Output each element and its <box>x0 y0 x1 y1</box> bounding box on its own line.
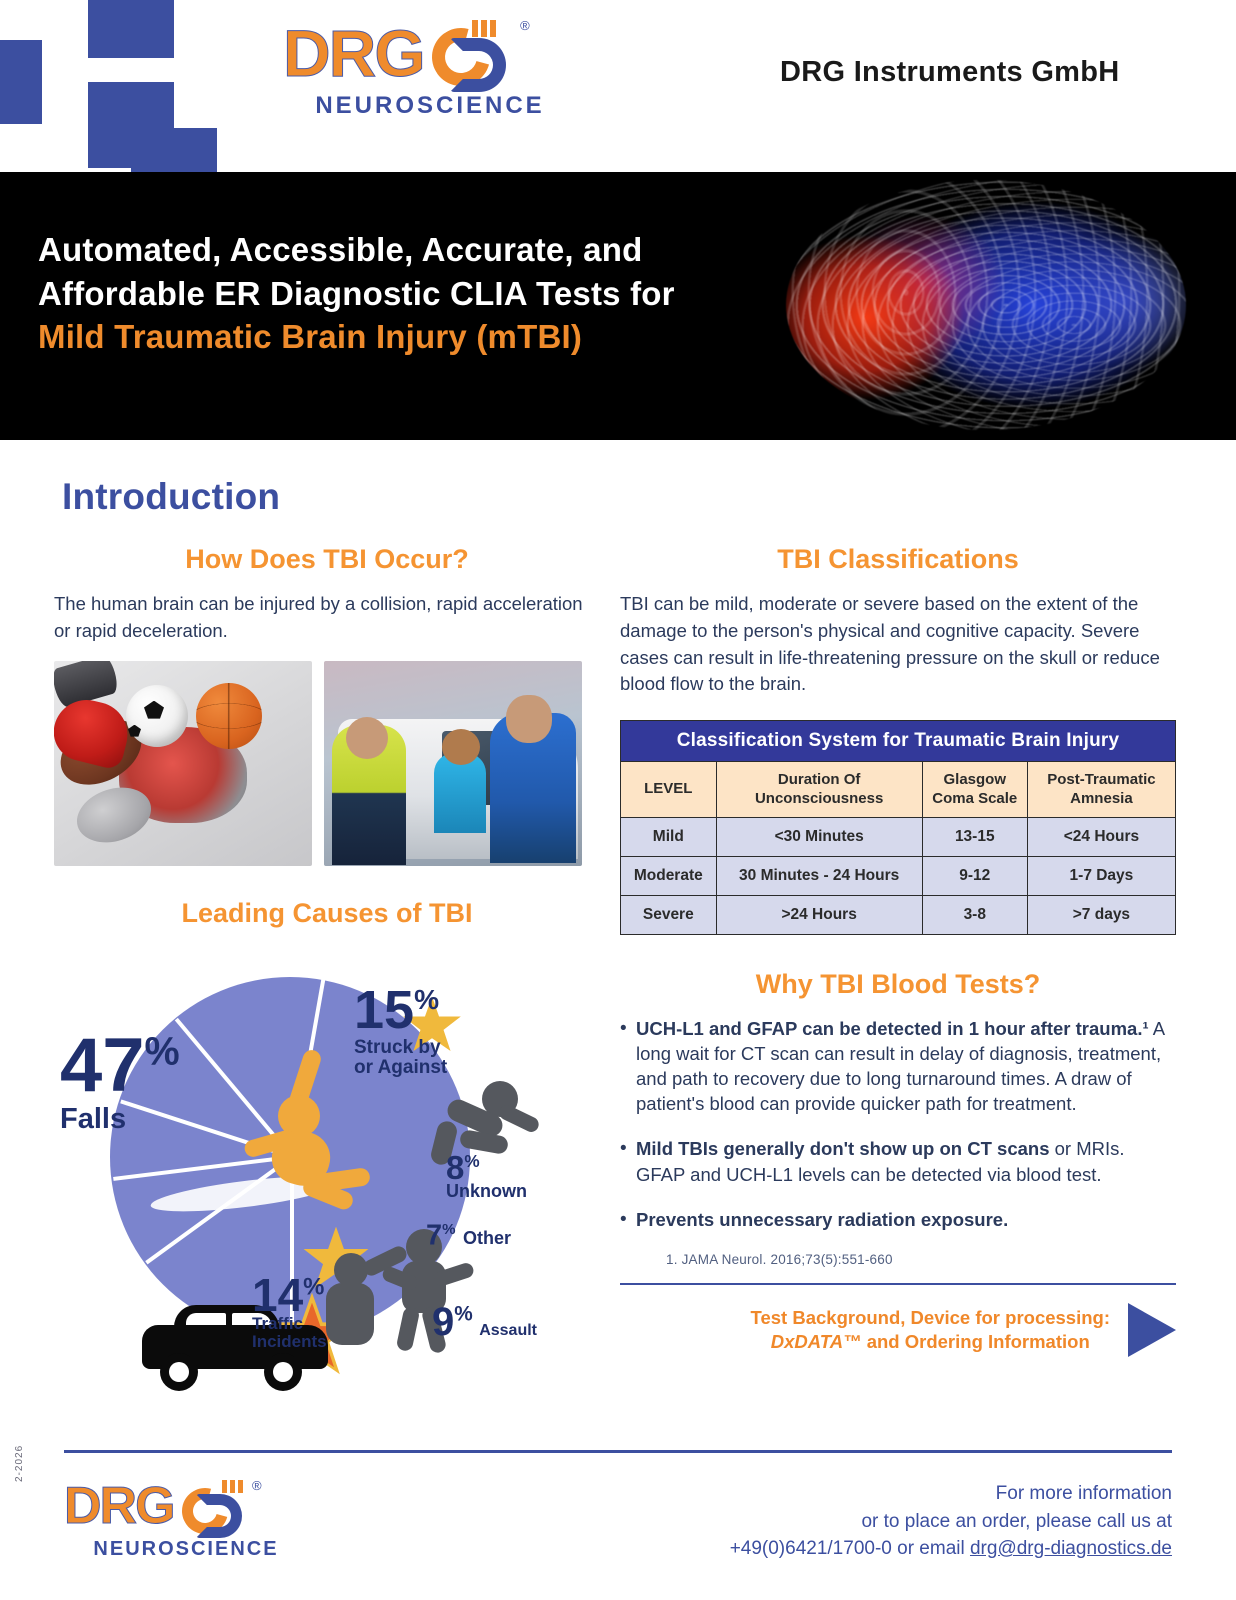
sports-brain-injury-photo <box>54 661 312 866</box>
table-cell: 13-15 <box>922 817 1027 856</box>
page-header: DRG ® NEUROSCIENCE DRG Instruments GmbH <box>0 0 1236 172</box>
table-cell: <30 Minutes <box>716 817 922 856</box>
right-arrow-icon[interactable] <box>1128 1303 1176 1357</box>
table-cell: 9-12 <box>922 856 1027 895</box>
why-tests-heading: Why TBI Blood Tests? <box>620 969 1176 1000</box>
drg-logo: DRG ® NEUROSCIENCE <box>283 22 583 120</box>
bullet-dot-icon: • <box>620 1136 636 1186</box>
footer-logo-wordmark: DRG <box>64 1482 174 1531</box>
why-tests-bullets: • UCH-L1 and GFAP can be detected in 1 h… <box>620 1016 1176 1233</box>
bullet-text: UCH-L1 and GFAP can be detected in 1 hou… <box>636 1016 1176 1117</box>
photo-row <box>54 661 600 866</box>
cta-text: Test Background, Device for processing: … <box>751 1306 1110 1354</box>
pie-label-other: 7% Other <box>426 1223 511 1250</box>
hero-line-1: Automated, Accessible, Accurate, and <box>38 228 798 272</box>
cta-block[interactable]: Test Background, Device for processing: … <box>620 1303 1176 1357</box>
table-header-level: LEVEL <box>621 762 717 818</box>
footer-logo-subtitle: NEUROSCIENCE <box>64 1538 314 1561</box>
cta-line-1: Test Background, Device for processing: <box>751 1306 1110 1330</box>
footer-side-code: 2-2026 <box>14 1445 25 1482</box>
table-title: Classification System for Traumatic Brai… <box>621 721 1176 762</box>
list-item: • Mild TBIs generally don't show up on C… <box>620 1136 1176 1186</box>
drg-swirl-icon: ® <box>178 1482 256 1540</box>
how-tbi-paragraph: The human brain can be injured by a coll… <box>54 591 600 645</box>
falling-person-icon <box>242 1043 372 1203</box>
divider <box>620 1283 1176 1285</box>
contact-line-3: +49(0)6421/1700-0 or email drg@drg-diagn… <box>730 1535 1172 1563</box>
pie-label-assault: 9% Assault <box>432 1305 537 1340</box>
table-cell: 30 Minutes - 24 Hours <box>716 856 922 895</box>
hero-line-3: Mild Traumatic Brain Injury (mTBI) <box>38 315 798 359</box>
pie-label-unknown: 8% Unknown <box>446 1153 527 1201</box>
table-header-duration: Duration OfUnconsciousness <box>716 762 922 818</box>
brain-illustration-icon <box>786 180 1186 430</box>
page-footer: 2-2026 DRG ® NEUROSCIENCE For more infor… <box>0 1440 1236 1600</box>
table-cell: 1-7 Days <box>1027 856 1175 895</box>
car-accident-rescue-photo <box>324 661 582 866</box>
table-header-amnesia: Post-TraumaticAmnesia <box>1027 762 1175 818</box>
table-cell: <24 Hours <box>1027 817 1175 856</box>
leading-causes-pie-chart: 47% Falls 15% Struck byor Against 8% Unk… <box>54 945 594 1375</box>
pie-label-falls: 47% Falls <box>60 1033 180 1134</box>
table-cell: 3-8 <box>922 895 1027 934</box>
decorative-square <box>0 40 42 124</box>
table-row: Moderate 30 Minutes - 24 Hours 9-12 1-7 … <box>621 856 1176 895</box>
company-name: DRG Instruments GmbH <box>780 56 1120 89</box>
how-tbi-heading: How Does TBI Occur? <box>54 544 600 575</box>
table-row: Severe >24 Hours 3-8 >7 days <box>621 895 1176 934</box>
pie-label-struck: 15% Struck byor Against <box>354 987 447 1078</box>
right-column: TBI Classifications TBI can be mild, mod… <box>600 532 1236 1375</box>
classification-table: Classification System for Traumatic Brai… <box>620 720 1176 935</box>
drg-swirl-icon: ® <box>428 22 524 94</box>
bullet-dot-icon: • <box>620 1016 636 1117</box>
footer-drg-logo: DRG ® NEUROSCIENCE <box>64 1482 314 1561</box>
classifications-heading: TBI Classifications <box>620 544 1176 575</box>
table-cell: Moderate <box>621 856 717 895</box>
logo-wordmark: DRG <box>283 22 424 85</box>
contact-line-1: For more information <box>730 1480 1172 1508</box>
hero-title: Automated, Accessible, Accurate, and Aff… <box>38 228 798 359</box>
hero-line-2: Affordable ER Diagnostic CLIA Tests for <box>38 272 798 316</box>
pie-label-traffic: 14% TrafficIncidents <box>252 1275 327 1351</box>
table-cell: >24 Hours <box>716 895 922 934</box>
bullet-text: Mild TBIs generally don't show up on CT … <box>636 1136 1176 1186</box>
classifications-paragraph: TBI can be mild, moderate or severe base… <box>620 591 1176 698</box>
left-column: How Does TBI Occur? The human brain can … <box>0 532 600 1375</box>
hero-banner: Automated, Accessible, Accurate, and Aff… <box>0 172 1236 440</box>
footnote-reference: 1. JAMA Neurol. 2016;73(5):551-660 <box>666 1252 1176 1267</box>
table-title-row: Classification System for Traumatic Brai… <box>621 721 1176 762</box>
bullet-dot-icon: • <box>620 1207 636 1233</box>
logo-subtitle: NEUROSCIENCE <box>283 92 583 120</box>
footer-contact: For more information or to place an orde… <box>730 1480 1172 1563</box>
footer-divider <box>64 1450 1172 1453</box>
table-cell: Severe <box>621 895 717 934</box>
table-cell: >7 days <box>1027 895 1175 934</box>
bullet-text: Prevents unnecessary radiation exposure. <box>636 1207 1008 1233</box>
cta-line-2-rest: and Ordering Information <box>862 1331 1090 1352</box>
contact-email-link[interactable]: drg@drg-diagnostics.de <box>970 1538 1172 1559</box>
page-title: Introduction <box>62 476 1236 518</box>
cta-product-name: DxDATA™ <box>771 1331 862 1352</box>
decorative-square <box>88 0 174 58</box>
table-row: Mild <30 Minutes 13-15 <24 Hours <box>621 817 1176 856</box>
pie-chart-title: Leading Causes of TBI <box>54 898 600 929</box>
table-cell: Mild <box>621 817 717 856</box>
contact-line-2: or to place an order, please call us at <box>730 1508 1172 1536</box>
table-header-gcs: GlasgowComa Scale <box>922 762 1027 818</box>
list-item: • UCH-L1 and GFAP can be detected in 1 h… <box>620 1016 1176 1117</box>
table-header-row: LEVEL Duration OfUnconsciousness Glasgow… <box>621 762 1176 818</box>
main-content: Introduction How Does TBI Occur? The hum… <box>0 476 1236 1375</box>
list-item: • Prevents unnecessary radiation exposur… <box>620 1207 1176 1233</box>
